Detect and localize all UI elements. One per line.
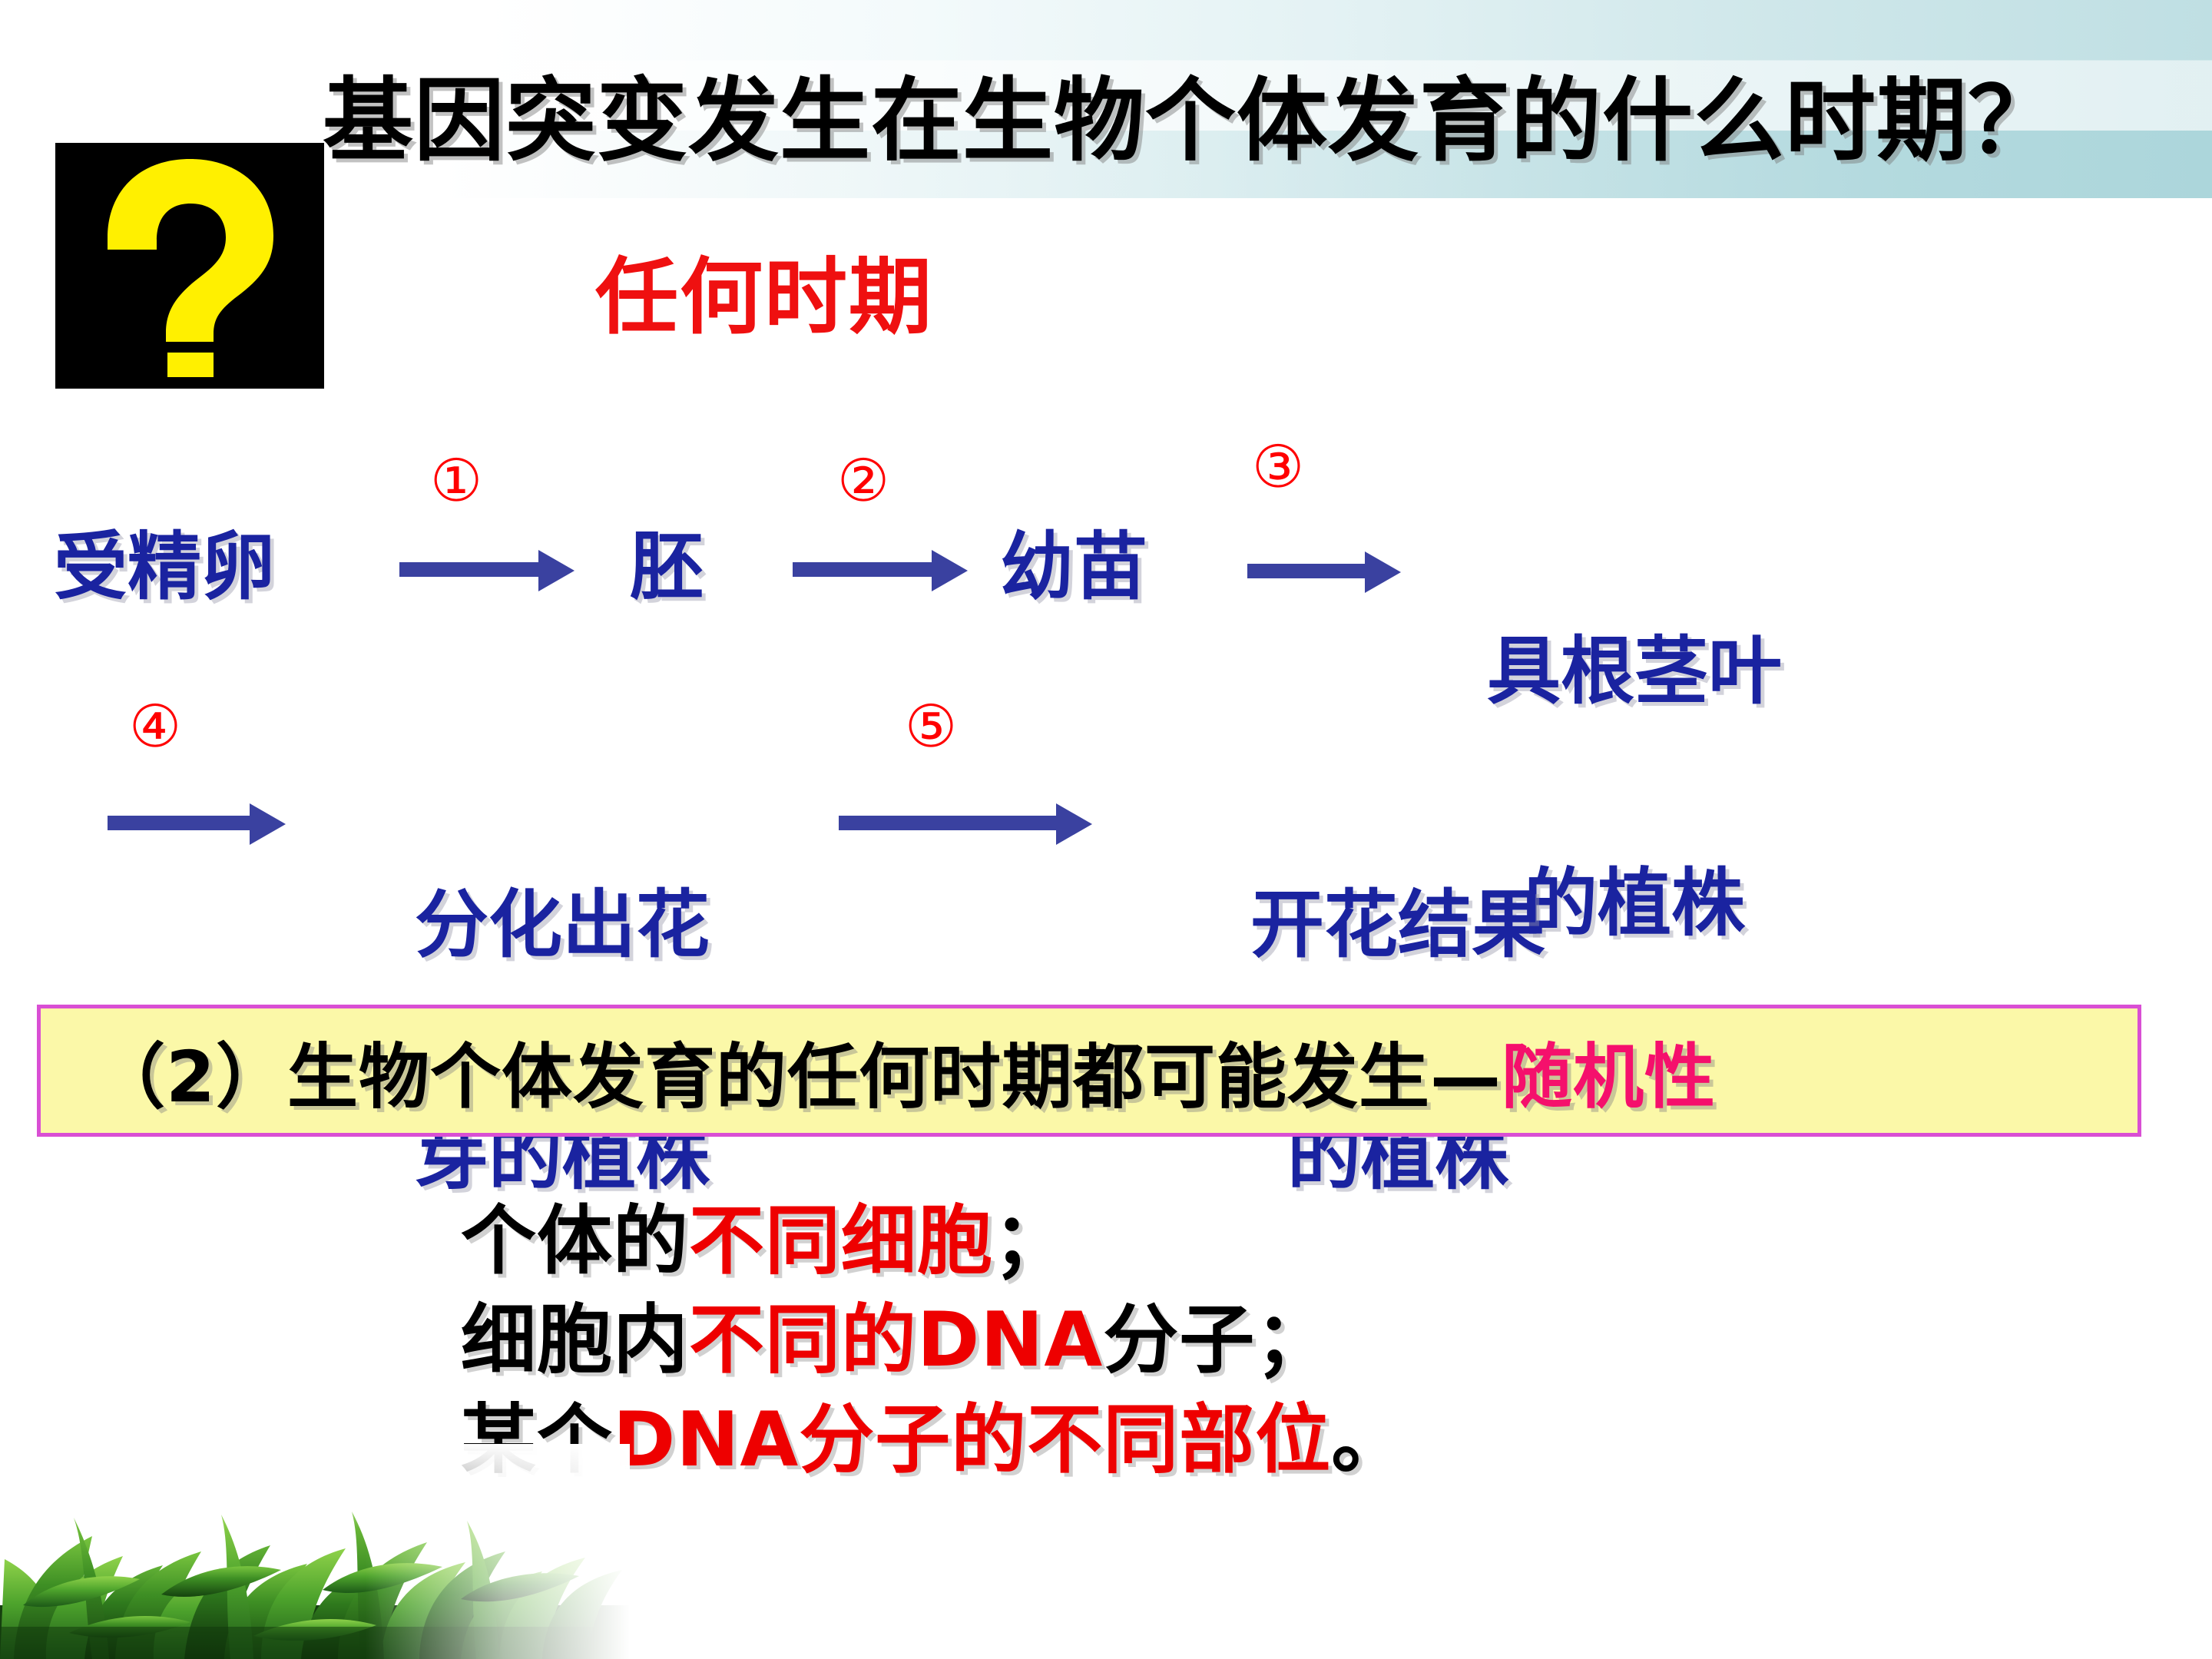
list-item-1-suffix: ；	[993, 1197, 1069, 1285]
list-item-3-suffix: 。	[1331, 1396, 1407, 1484]
question-mark-icon	[55, 143, 324, 389]
callout-text: （2）生物个体发育的任何时期都可能发生—随机性	[41, 1020, 1716, 1122]
flow-arrow-4	[108, 813, 286, 833]
flow-arrow-2	[793, 559, 968, 579]
flow-arrow-1	[399, 559, 575, 579]
flow-node-fertilized-egg: 受精卵	[54, 530, 275, 605]
flow-node-embryo: 胚	[630, 530, 704, 605]
page-title: 基因突变发生在生物个体发育的什么时期？	[323, 74, 2166, 169]
list-item-2-suffix: 分子；	[1103, 1296, 1331, 1384]
step-number-1: ①	[430, 452, 482, 510]
list-item-1-emphasis: 不同细胞	[689, 1197, 993, 1285]
answer-text: 任何时期	[595, 230, 933, 350]
list-item-3-emphasis: DNA分子的不同部位	[613, 1396, 1331, 1484]
step-number-4: ④	[129, 697, 181, 756]
development-stage-flowchart: 受精卵 ① 胚 ② 幼苗 ③ 具根茎叶 的植株 ④ 分化出花 芽的植株 ⑤ 开花…	[0, 430, 2212, 952]
list-item-2-emphasis: 不同的DNA	[689, 1296, 1103, 1384]
step-number-5: ⑤	[905, 697, 957, 756]
list-item-3-prefix: 某个	[461, 1396, 613, 1484]
step-number-2: ②	[837, 452, 889, 510]
flow-arrow-3	[1247, 561, 1401, 581]
callout-text-main: （2）生物个体发育的任何时期都可能发生—	[94, 1036, 1502, 1118]
callout-text-highlight: 随机性	[1502, 1036, 1716, 1118]
randomness-callout-box: （2）生物个体发育的任何时期都可能发生—随机性	[37, 1005, 2141, 1137]
flow-node-flower-bud-plant-line1: 分化出花	[347, 886, 777, 964]
flow-node-rooted-plant-line1: 具根茎叶	[1427, 633, 1842, 710]
list-item-1-prefix: 个体的	[461, 1197, 689, 1285]
list-item: 细胞内不同的DNA分子；	[461, 1291, 2151, 1390]
flow-node-seedling: 幼苗	[1000, 530, 1147, 605]
list-item-2-prefix: 细胞内	[461, 1296, 689, 1384]
flow-arrow-5	[839, 813, 1092, 833]
randomness-detail-list: 个体的不同细胞； 细胞内不同的DNA分子； 某个DNA分子的不同部位。	[461, 1192, 2151, 1490]
list-item: 某个DNA分子的不同部位。	[461, 1391, 2151, 1490]
flow-node-fruiting-plant-line1: 开花结果	[1183, 886, 1613, 964]
list-item: 个体的不同细胞；	[461, 1192, 2151, 1291]
step-number-3: ③	[1252, 438, 1304, 496]
